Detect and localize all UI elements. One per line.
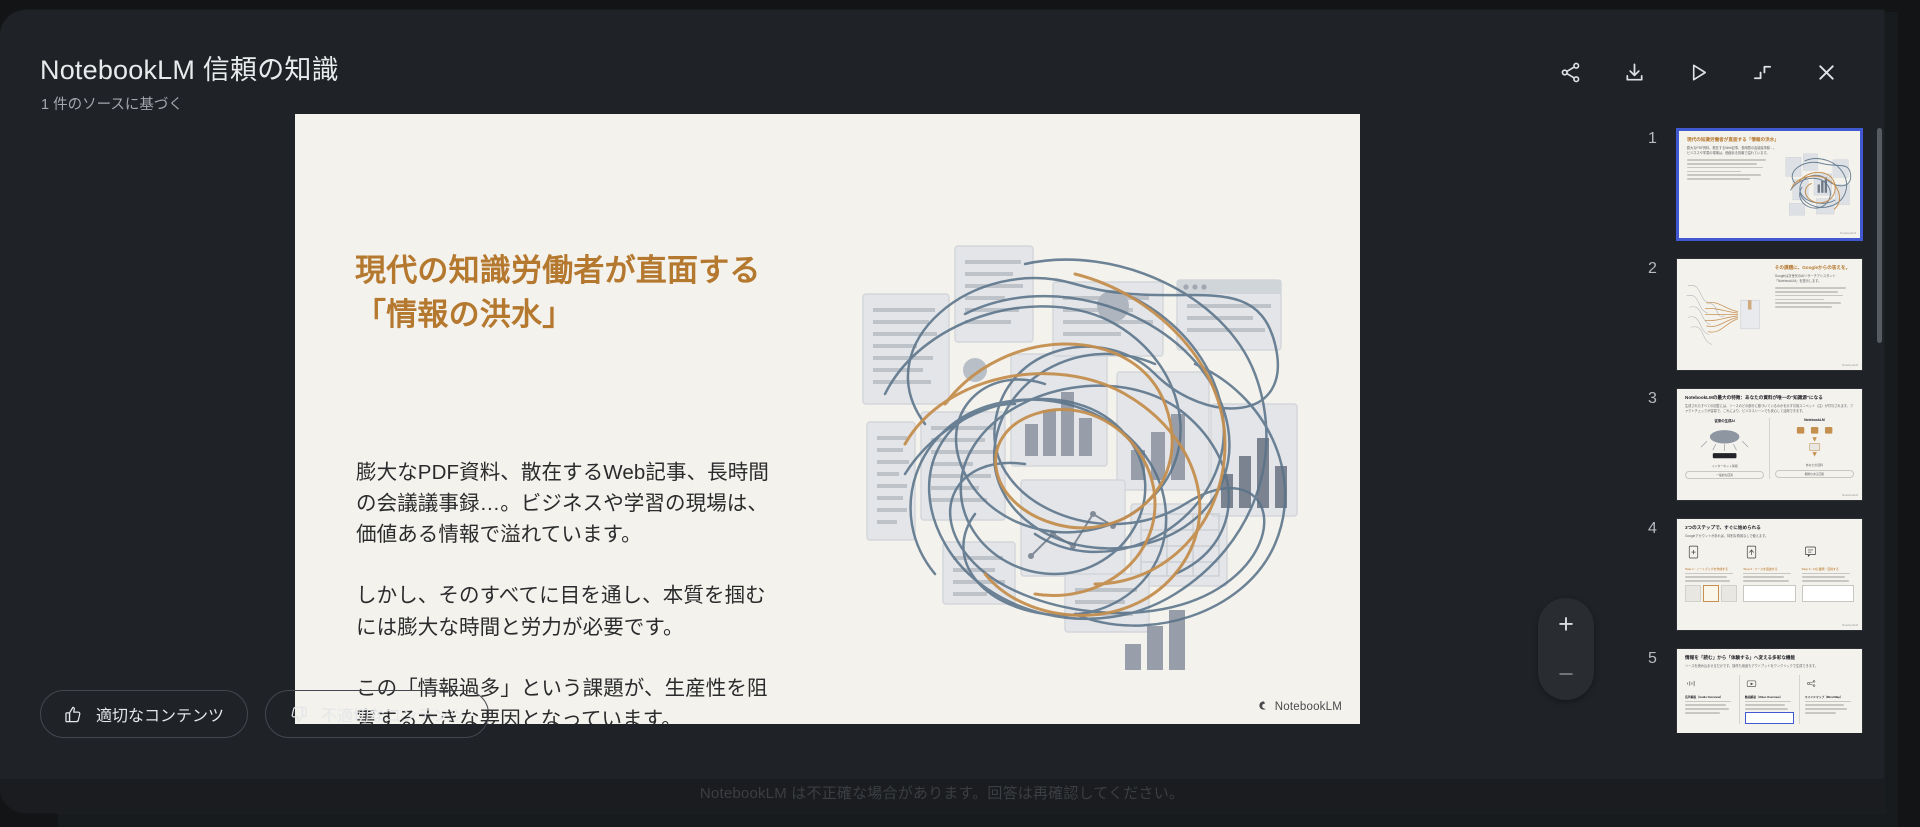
thumbnail-label: 一般的な回答 <box>1685 471 1764 479</box>
slide-thumbnail-rail[interactable]: 1 現代の知識労働者が直面する「情報の洪水」 膨大なPDF資料、散在するWeb記… <box>1644 128 1884 733</box>
thumbnail-slide-1[interactable]: 現代の知識労働者が直面する「情報の洪水」 膨大なPDF資料、散在するWeb記事、… <box>1676 128 1863 241</box>
thumbnail-subtitle: ソースを読み込ませるだけです。操作も用途もアウトプットをワンクリックで生成できま… <box>1685 664 1854 668</box>
play-icon <box>1687 61 1710 84</box>
source-count-label: 1 件のソースに基づく <box>41 93 183 114</box>
collapse-button[interactable] <box>1740 50 1784 94</box>
share-button[interactable] <box>1548 50 1592 94</box>
list-item[interactable]: 1 現代の知識労働者が直面する「情報の洪水」 膨大なPDF資料、散在するWeb記… <box>1644 128 1884 243</box>
close-button[interactable] <box>1804 50 1848 94</box>
thumbnail-title: 3つのステップで、すぐに始められる <box>1685 525 1854 531</box>
thumbnail-label: 従来の生成AI <box>1685 418 1764 423</box>
thumbnail-slide-2[interactable]: その課題に、Googleからの答えを。 Googleは次世代のAIリサーチアシス… <box>1676 258 1863 371</box>
list-item[interactable]: 5 情報を「読む」から「体験する」へ変える多彩な機能 ソースを読み込ませるだけで… <box>1644 648 1884 733</box>
page-title: NotebookLM 信頼の知識 <box>40 48 339 87</box>
zoom-in-button[interactable]: + <box>1542 601 1590 647</box>
thumbnail-label: NotebookLM <box>1775 418 1854 422</box>
list-item[interactable]: 4 3つのステップで、すぐに始められる Googleアカウントがあれば、特別な費… <box>1644 518 1884 633</box>
thumbnail-number: 4 <box>1644 518 1676 538</box>
disclaimer-text: NotebookLM は不正確な場合があります。回答は再確認してください。 <box>0 782 1884 803</box>
thumbnail-subtitle: 生成されたすべての回答には、ソースのどの部分に基づいているのかを示す引用スニペッ… <box>1685 404 1854 413</box>
thumbs-down-icon <box>289 705 308 724</box>
thumbnail-watermark: NotebookLM <box>1842 493 1858 497</box>
viewer-panel: NotebookLM 信頼の知識 1 件のソースに基づく <box>0 10 1884 813</box>
download-button[interactable] <box>1612 50 1656 94</box>
slide-title: 現代の知識労働者が直面する「情報の洪水」 <box>355 249 785 337</box>
negative-feedback-label: 不適切なコンテンツ <box>321 702 465 726</box>
positive-feedback-label: 適切なコンテンツ <box>96 702 224 726</box>
positive-feedback-button[interactable]: 適切なコンテンツ <box>40 690 248 738</box>
collapse-icon <box>1751 61 1774 84</box>
thumbnail-title: NotebookLMの最大の特徴：あなたの資料が唯一の"知識源"になる <box>1685 395 1854 401</box>
thumbnail-slide-3[interactable]: NotebookLMの最大の特徴：あなたの資料が唯一の"知識源"になる 生成され… <box>1676 388 1863 501</box>
thumbnail-number: 5 <box>1644 648 1676 668</box>
tangled-documents-illustration <box>825 174 1325 674</box>
thumbnail-label: Step 3 : AIに質問・活用する <box>1802 567 1854 571</box>
list-item[interactable]: 2 <box>1644 258 1884 373</box>
slide-stage: 現代の知識労働者が直面する「情報の洪水」 膨大なPDF資料、散在するWeb記事、… <box>0 114 1655 734</box>
thumbnail-watermark: NotebookLM <box>1842 363 1858 367</box>
share-icon <box>1559 61 1582 84</box>
current-slide[interactable]: 現代の知識労働者が直面する「情報の洪水」 膨大なPDF資料、散在するWeb記事、… <box>295 114 1360 724</box>
thumbnail-label: Step 2 : ソースを追加する <box>1743 567 1795 571</box>
header-actions <box>1548 50 1848 94</box>
thumbnail-slide-4[interactable]: 3つのステップで、すぐに始められる Googleアカウントがあれば、特別な費用な… <box>1676 518 1863 631</box>
thumbnail-label: 根拠のある回答 <box>1775 470 1854 478</box>
play-button[interactable] <box>1676 50 1720 94</box>
notebooklm-slide-viewer: NotebookLM 信頼の知識 1 件のソースに基づく <box>0 0 1920 827</box>
thumbnail-label: Step 1 : ノートブックを作成する <box>1685 567 1737 571</box>
thumbnail-number: 1 <box>1644 128 1676 148</box>
thumbnail-title: その課題に、Googleからの答えを。 <box>1775 265 1854 271</box>
thumbnail-number: 3 <box>1644 388 1676 408</box>
thumbnail-subtitle: Googleは次世代のAIリサーチアシスタント「NotebookLM」を提示しま… <box>1775 274 1854 283</box>
thumbnail-label: あなたの資料 <box>1775 463 1854 467</box>
slide-paragraph: しかし、そのすべてに目を通し、本質を掴むには膨大な時間と労力が必要です。 <box>356 580 776 642</box>
download-icon <box>1623 61 1646 84</box>
thumbnail-label: インターネット情報 <box>1685 464 1764 468</box>
thumbnail-label: 音声解説（Audio Overview） <box>1685 695 1734 699</box>
viewer-header: NotebookLM 信頼の知識 1 件のソースに基づく <box>0 10 1884 114</box>
slide-paragraph: 膨大なPDF資料、散在するWeb記事、長時間の会議議事録…。ビジネスや学習の現場… <box>356 457 776 550</box>
close-icon <box>1815 61 1838 84</box>
thumbnail-watermark: NotebookLM <box>1840 231 1856 235</box>
thumbnail-watermark: NotebookLM <box>1842 623 1858 627</box>
thumbs-up-icon <box>64 705 83 724</box>
thumbnail-label: 動画解説（Video Overview） <box>1745 695 1794 699</box>
thumbnail-scrollbar[interactable] <box>1877 128 1882 343</box>
thumbnail-slide-5[interactable]: 情報を「読む」から「体験する」へ変える多彩な機能 ソースを読み込ませるだけです。… <box>1676 648 1863 733</box>
thumbnail-title: 現代の知識労働者が直面する「情報の洪水」 <box>1687 137 1777 143</box>
thumbnail-label: マインドマップ（Mind Map） <box>1805 695 1854 699</box>
negative-feedback-button[interactable]: 不適切なコンテンツ <box>265 690 489 738</box>
thumbnail-number: 2 <box>1644 258 1676 278</box>
thumbnail-title: 情報を「読む」から「体験する」へ変える多彩な機能 <box>1685 655 1854 661</box>
thumbnail-subtitle: Googleアカウントがあれば、特別な費用なしで使えます。 <box>1685 534 1854 538</box>
feedback-bar: 適切なコンテンツ 不適切なコンテンツ <box>0 671 1655 757</box>
thumbnail-subtitle: 膨大なPDF資料、散在するWeb記事、長時間の会議議事録…。ビジネスや学習の現場… <box>1687 146 1777 155</box>
list-item[interactable]: 3 NotebookLMの最大の特徴：あなたの資料が唯一の"知識源"になる 生成… <box>1644 388 1884 503</box>
